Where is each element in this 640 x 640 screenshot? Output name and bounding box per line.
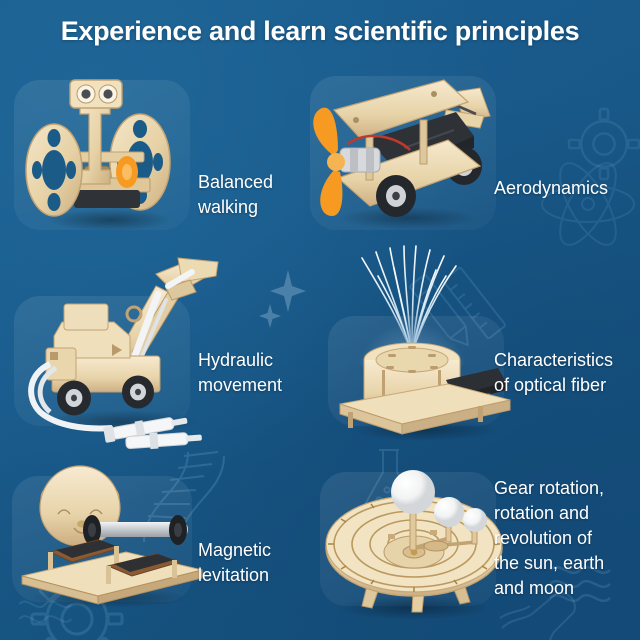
optical-fiber-lamp-photo [328, 242, 518, 446]
feature-caption: Balanced walking [198, 170, 318, 220]
page-title: Experience and learn scientific principl… [0, 16, 640, 47]
feature-item-hydraulic-movement[interactable]: Hydraulic movement [0, 260, 320, 450]
magnetic-levitation-photo [14, 470, 204, 610]
feature-item-aerodynamics[interactable]: Aerodynamics [320, 70, 640, 260]
feature-caption: Characteristics of optical fiber [494, 348, 640, 398]
wooden-orrery-photo [318, 456, 512, 622]
wooden-biplane-photo [304, 74, 500, 230]
feature-caption: Hydraulic movement [198, 348, 318, 398]
feature-item-sun-earth-moon[interactable]: Gear rotation, rotation and revolution o… [320, 450, 640, 640]
feature-item-optical-fiber[interactable]: Characteristics of optical fiber [320, 260, 640, 450]
wooden-hydraulic-excavator-photo [16, 252, 226, 448]
promo-image: Experience and learn scientific principl… [0, 0, 640, 640]
wooden-balancing-robot-photo [22, 74, 192, 232]
feature-item-balanced-walking[interactable]: Balanced walking [0, 70, 320, 260]
feature-caption: Gear rotation, rotation and revolution o… [494, 476, 640, 601]
feature-item-magnetic-levitation[interactable]: Magnetic levitation [0, 450, 320, 640]
feature-caption: Aerodynamics [494, 176, 634, 201]
feature-caption: Magnetic levitation [198, 538, 318, 588]
feature-grid: Balanced walking [0, 70, 640, 640]
